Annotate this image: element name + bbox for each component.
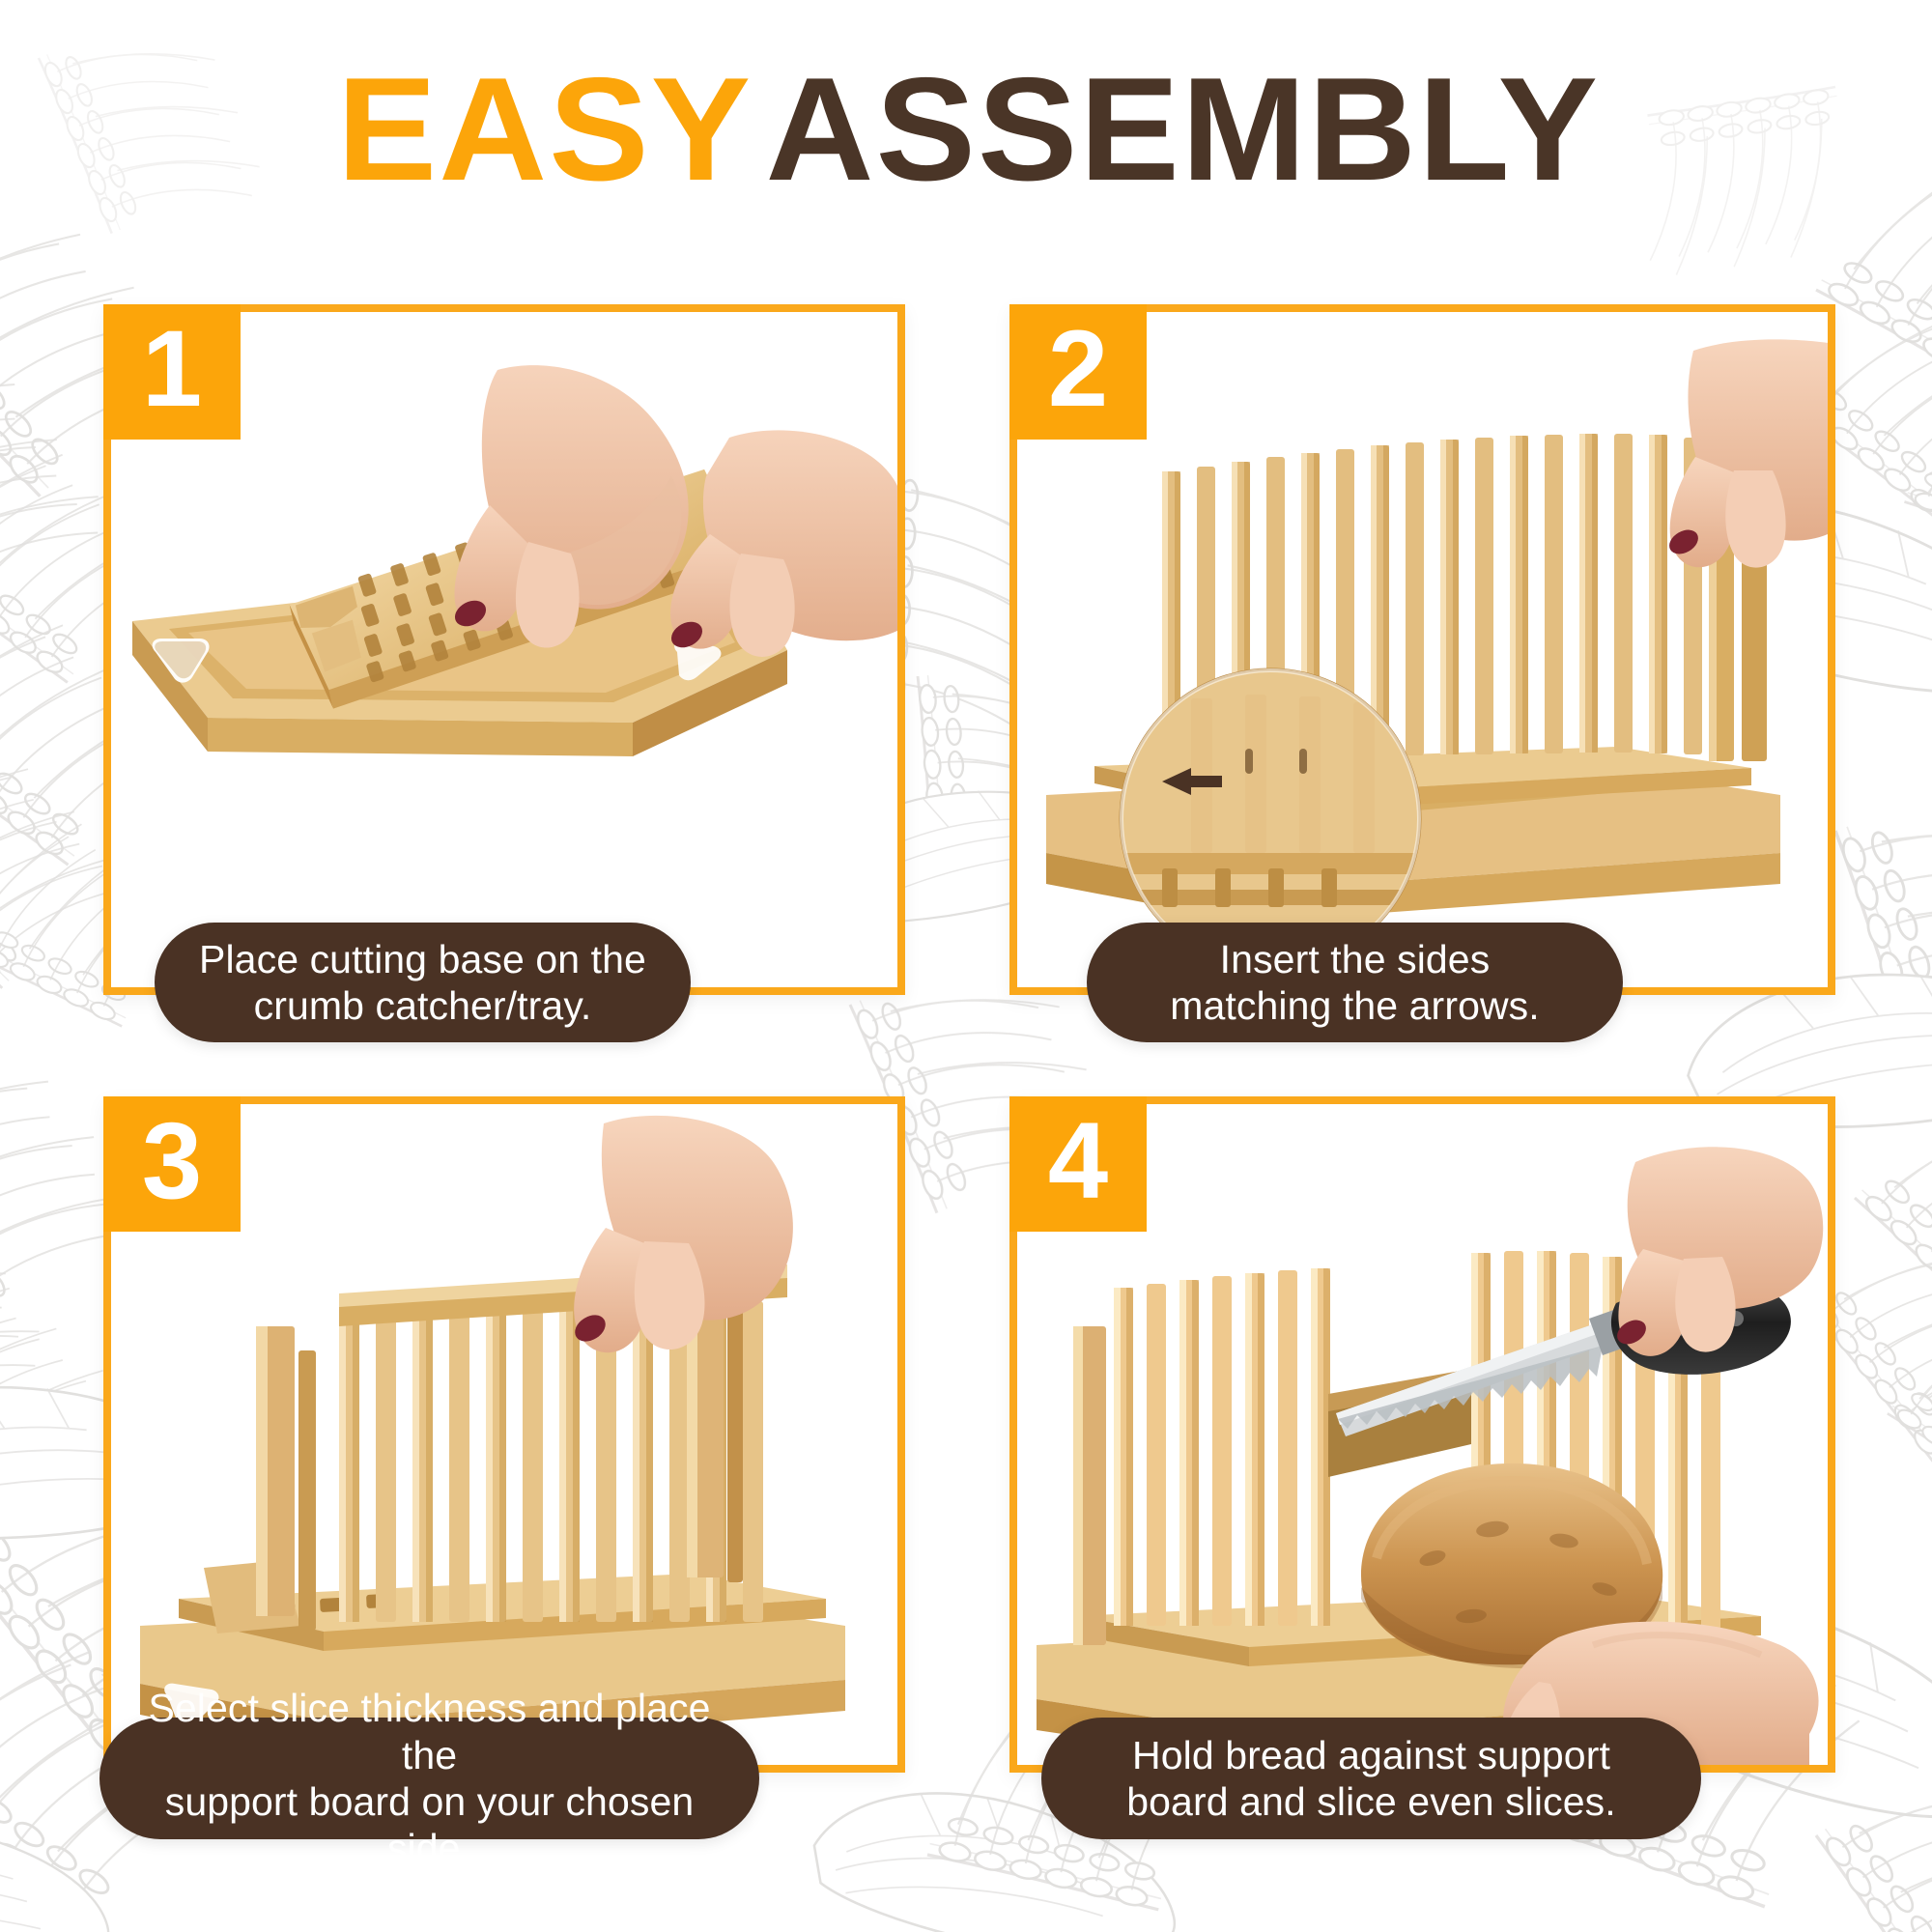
caption-2-line-1: Insert the sides [1170, 936, 1540, 982]
caption-2-line-2: matching the arrows. [1170, 982, 1540, 1029]
title-word-assembly: ASSEMBLY [765, 56, 1600, 203]
step-number-3: 3 [142, 1107, 202, 1215]
caption-1-line-2: crumb catcher/tray. [199, 982, 646, 1029]
step-number-4: 4 [1048, 1107, 1108, 1215]
caption-3-line-2: support board on your chosen side. [138, 1778, 721, 1872]
step-number-badge-2: 2 [1009, 304, 1147, 440]
step-number-1: 1 [142, 315, 202, 423]
step-panel-2: 2 [1009, 304, 1835, 995]
step-caption-4: Hold bread against support board and sli… [1041, 1718, 1701, 1839]
step-number-badge-4: 4 [1009, 1096, 1147, 1232]
step-panel-4: 4 [1009, 1096, 1835, 1773]
step-caption-2: Insert the sides matching the arrows. [1087, 923, 1623, 1042]
caption-3-line-1: Select slice thickness and place the [138, 1685, 721, 1778]
caption-1-line-1: Place cutting base on the [199, 936, 646, 982]
step-caption-3: Select slice thickness and place the sup… [99, 1718, 759, 1839]
step-number-badge-3: 3 [103, 1096, 241, 1232]
caption-4-line-2: board and slice even slices. [1126, 1778, 1615, 1825]
step-caption-1: Place cutting base on the crumb catcher/… [155, 923, 691, 1042]
caption-4-line-1: Hold bread against support [1126, 1732, 1615, 1778]
step-panel-3: 3 [103, 1096, 905, 1773]
title-word-easy: EASY [337, 56, 753, 203]
step-panel-1: 1 [103, 304, 905, 995]
left-support-board-3 [256, 1326, 316, 1631]
step-number-2: 2 [1048, 315, 1108, 423]
page-title: EASYASSEMBLY [0, 56, 1932, 203]
step-number-badge-1: 1 [103, 304, 241, 440]
